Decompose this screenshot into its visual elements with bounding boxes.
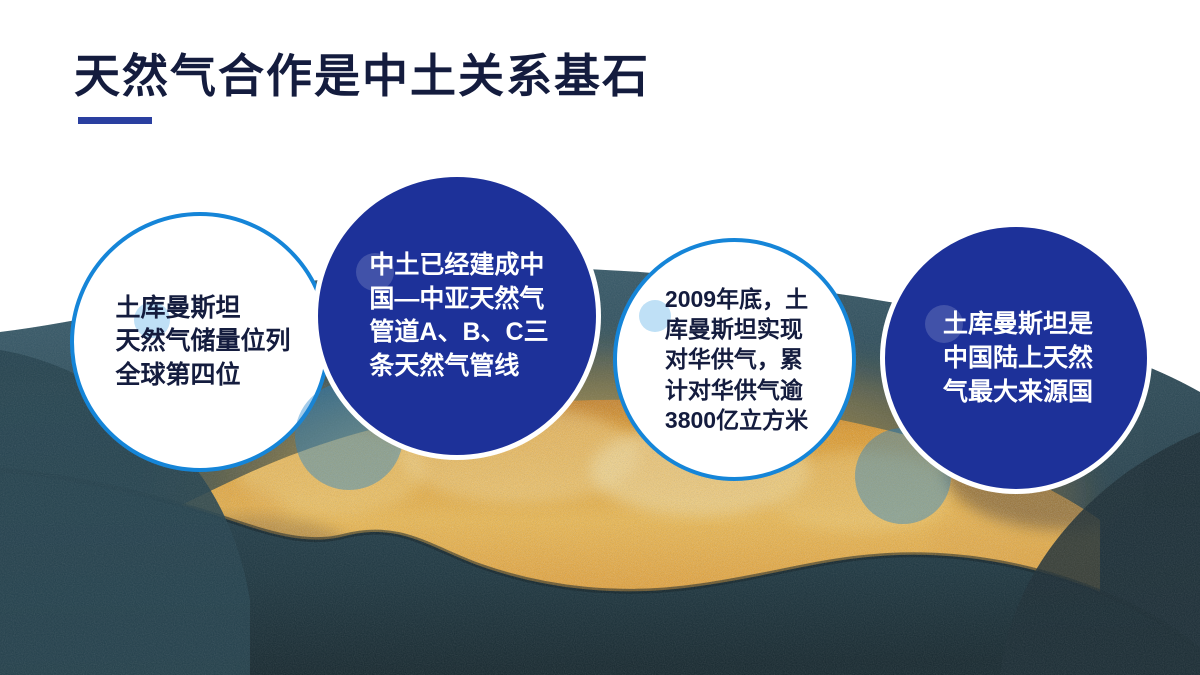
fact-bubble-1-text: 土库曼斯坦 天然气储量位列 全球第四位 bbox=[115, 292, 290, 393]
fact-bubble-3[interactable]: 2009年底，土 库曼斯坦实现 对华供气，累 计对华供气逾 3800亿立方米 bbox=[613, 238, 856, 481]
page-title: 天然气合作是中土关系基石 bbox=[74, 40, 650, 106]
fact-bubble-4[interactable]: 土库曼斯坦是 中国陆上天然 气最大来源国 bbox=[880, 222, 1152, 494]
fact-bubble-3-text: 2009年底，土 库曼斯坦实现 对华供气，累 计对华供气逾 3800亿立方米 bbox=[665, 284, 808, 436]
fact-bubble-1[interactable]: 土库曼斯坦 天然气储量位列 全球第四位 bbox=[70, 212, 330, 472]
fact-bubble-2[interactable]: 中土已经建成中 国—中亚天然气 管道A、B、C三 条天然气管线 bbox=[313, 172, 601, 460]
fact-bubble-2-text: 中土已经建成中 国—中亚天然气 管道A、B、C三 条天然气管线 bbox=[369, 249, 548, 383]
title-underline-rule bbox=[78, 117, 152, 124]
fact-bubble-4-text: 土库曼斯坦是 中国陆上天然 气最大来源国 bbox=[943, 307, 1093, 409]
infographic-slide: 天然气合作是中土关系基石 CHINADAILY 中文网 .COM.CN 土库曼斯… bbox=[0, 0, 1200, 675]
